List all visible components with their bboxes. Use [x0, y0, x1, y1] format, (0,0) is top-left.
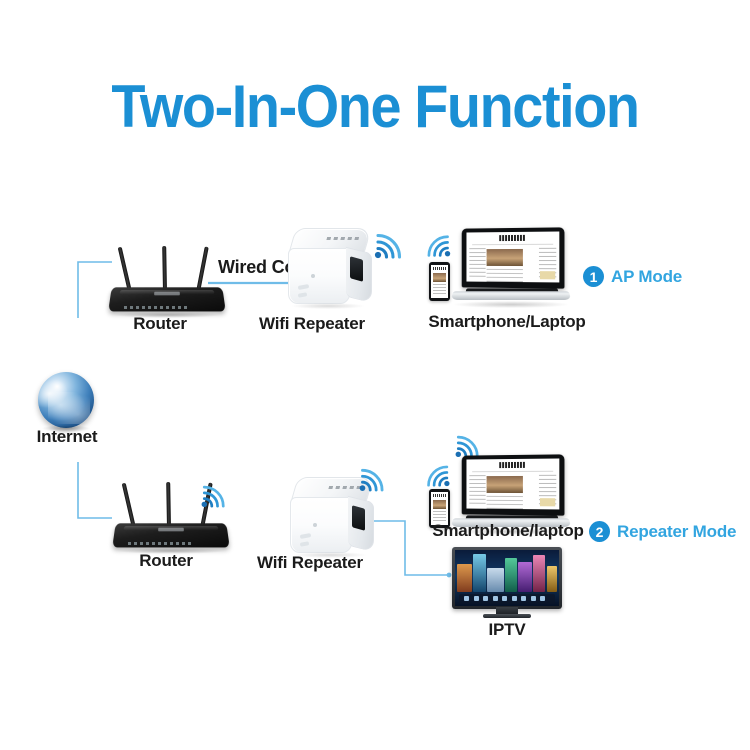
- tv-label: IPTV: [489, 620, 526, 640]
- wifi-signal-icon: [423, 462, 452, 488]
- router-antenna: [162, 246, 167, 292]
- mode-number: 2: [589, 521, 610, 542]
- tv-screen: [455, 550, 559, 606]
- router-antenna: [118, 247, 132, 293]
- wifi-signal-icon: [372, 230, 406, 260]
- repeater-face: [290, 497, 352, 553]
- router-leds: [124, 306, 190, 309]
- laptop-screen: [466, 231, 559, 282]
- wifi-signal-icon: [423, 232, 453, 258]
- ap-mode-badge[interactable]: 1 AP Mode: [583, 266, 682, 287]
- repeater-port: [350, 256, 363, 282]
- router-brand: [154, 292, 180, 296]
- router-icon-top: [108, 242, 226, 318]
- router-antenna: [166, 482, 171, 528]
- repeater-label-top: Wifi Repeater: [259, 314, 365, 334]
- client-label-bottom: Smartphone/laptop: [432, 521, 584, 541]
- wifi-signal-icon: [199, 482, 229, 509]
- laptop-icon-top: [452, 228, 570, 308]
- tv-frame: [452, 547, 562, 609]
- laptop-lid: [462, 454, 565, 515]
- globe-icon: [38, 372, 94, 428]
- laptop-base: [451, 291, 572, 300]
- router-antenna: [196, 246, 209, 292]
- router-antenna: [122, 483, 136, 529]
- connector-lines: [0, 0, 750, 750]
- internet-label: Internet: [37, 427, 98, 447]
- laptop-screen: [466, 458, 559, 509]
- laptop-lid: [462, 227, 565, 288]
- wifi-repeater-icon-top: [288, 228, 374, 306]
- wifi-signal-icon: [357, 465, 388, 493]
- smartphone-icon-top: [429, 262, 450, 301]
- router-label-bottom: Router: [139, 551, 193, 571]
- mode-label: Repeater Mode: [617, 522, 736, 542]
- repeater-port: [352, 505, 365, 531]
- repeater-mode-badge[interactable]: 2 Repeater Mode: [589, 521, 736, 542]
- mode-label: AP Mode: [611, 267, 682, 287]
- diagram-stage: Router Wired Connection Wifi Repeater: [0, 0, 750, 750]
- client-label-top: Smartphone/Laptop: [428, 312, 585, 332]
- tv-app-bar: [459, 594, 555, 604]
- tv-foot: [483, 614, 531, 618]
- router-leds: [128, 542, 194, 545]
- repeater-label-bottom: Wifi Repeater: [257, 553, 363, 573]
- router-label-top: Router: [133, 314, 187, 334]
- mode-number: 1: [583, 266, 604, 287]
- repeater-face: [288, 248, 350, 304]
- tv-icon: [452, 547, 562, 621]
- router-brand: [158, 528, 184, 532]
